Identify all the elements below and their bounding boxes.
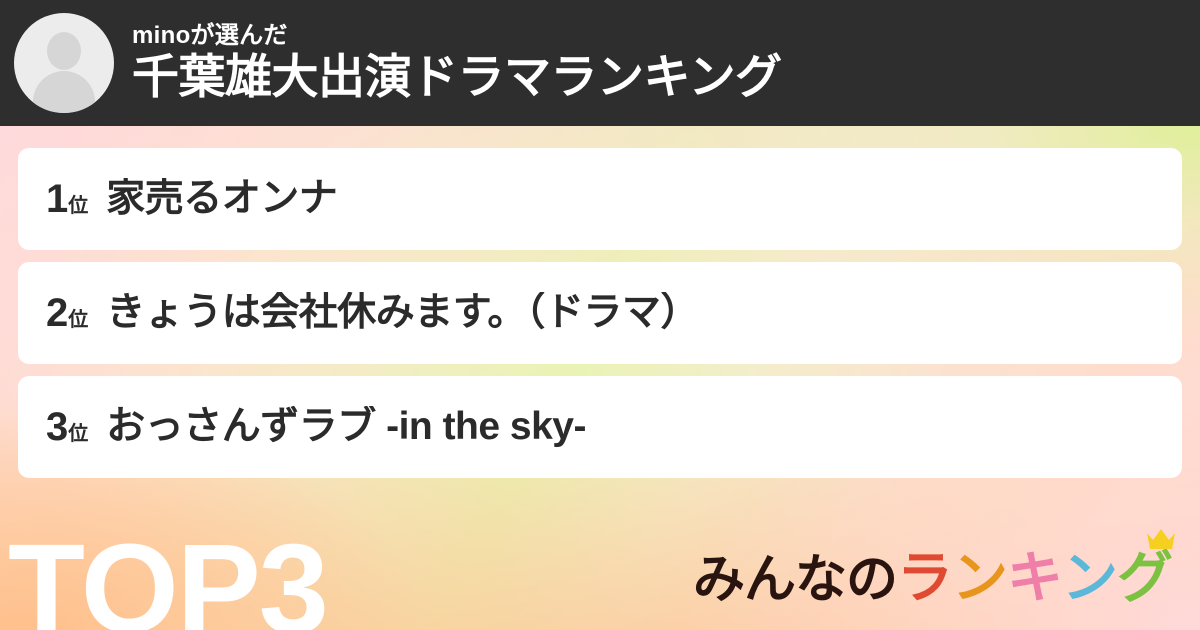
rank-badge: 3 位 bbox=[46, 407, 88, 447]
logo-plain-text: みんなの bbox=[693, 554, 897, 606]
rank-badge: 1 位 bbox=[46, 179, 88, 219]
list-item[interactable]: 3 位 おっさんずラブ -in the sky- bbox=[18, 376, 1182, 478]
logo-kana-n1: ン bbox=[952, 550, 1007, 606]
logo-kana-ra: ラ bbox=[897, 550, 952, 606]
user-avatar-icon bbox=[14, 13, 114, 113]
logo-kana-gu: グ bbox=[1117, 550, 1172, 606]
avatar-body-shape bbox=[33, 71, 95, 113]
list-item[interactable]: 2 位 きょうは会社休みます。（ドラマ） bbox=[18, 262, 1182, 364]
rank-unit-label: 位 bbox=[68, 424, 88, 444]
rank-number: 3 bbox=[46, 407, 67, 447]
rank-number: 2 bbox=[46, 293, 67, 333]
ranking-item-title: きょうは会社休みます。（ドラマ） bbox=[106, 292, 699, 335]
ranking-list: 1 位 家売るオンナ 2 位 きょうは会社休みます。（ドラマ） 3 位 おっさん… bbox=[18, 148, 1182, 490]
page-title: 千葉雄大出演ドラマランキング bbox=[132, 51, 782, 104]
crown-icon bbox=[1146, 528, 1176, 550]
header-text-group: minoが選んだ 千葉雄大出演ドラマランキング bbox=[132, 23, 782, 104]
rank-unit-label: 位 bbox=[68, 310, 88, 330]
avatar-head-shape bbox=[47, 32, 81, 70]
ogp-canvas: minoが選んだ 千葉雄大出演ドラマランキング 1 位 家売るオンナ 2 位 き… bbox=[0, 0, 1200, 630]
site-logo[interactable]: みんなの ランキング bbox=[693, 550, 1172, 606]
rank-number: 1 bbox=[46, 179, 67, 219]
header-eyebrow: minoが選んだ bbox=[132, 23, 782, 48]
logo-kana-group: ランキング bbox=[897, 550, 1172, 606]
top3-label: TOP3 bbox=[8, 526, 327, 630]
list-item[interactable]: 1 位 家売るオンナ bbox=[18, 148, 1182, 250]
logo-kana-n2: ン bbox=[1062, 550, 1117, 606]
page-header: minoが選んだ 千葉雄大出演ドラマランキング bbox=[0, 0, 1200, 126]
ranking-item-title: 家売るオンナ bbox=[106, 178, 337, 221]
rank-unit-label: 位 bbox=[68, 196, 88, 216]
ranking-item-title: おっさんずラブ -in the sky- bbox=[106, 406, 586, 449]
logo-kana-ki: キ bbox=[1007, 550, 1062, 606]
rank-badge: 2 位 bbox=[46, 293, 88, 333]
